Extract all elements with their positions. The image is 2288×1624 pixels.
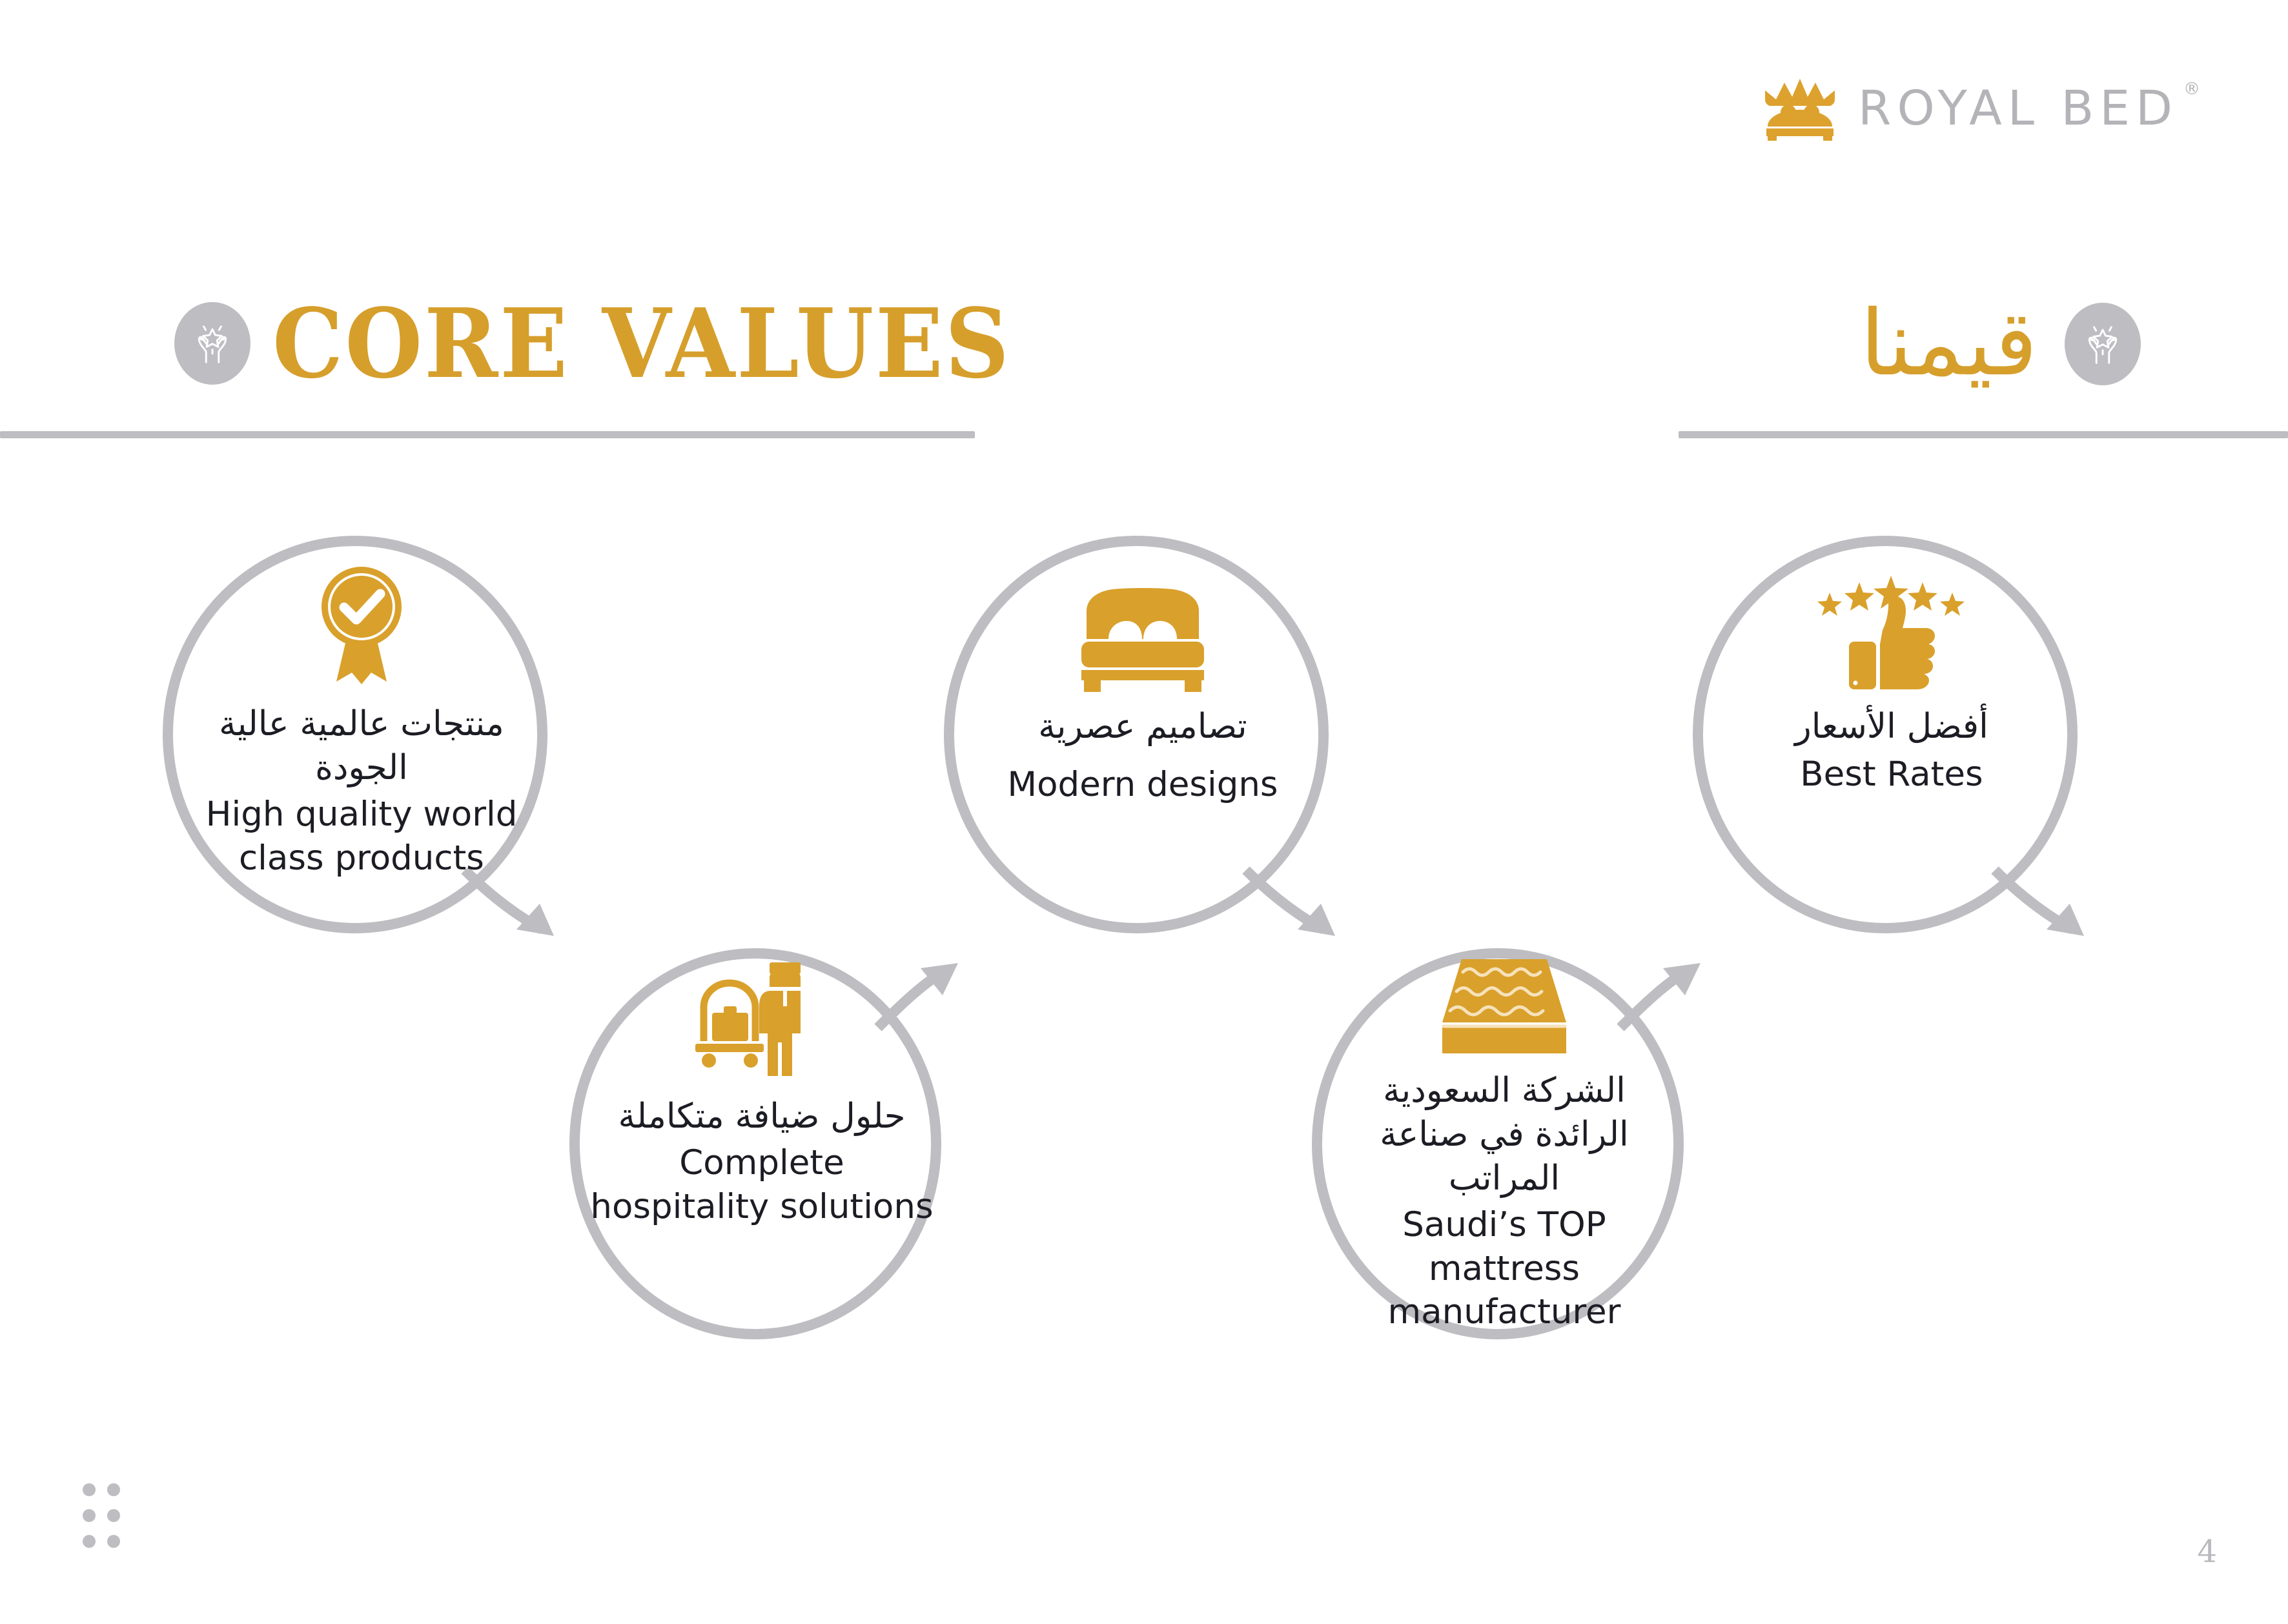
value-label-en: Modern designs (1007, 763, 1278, 807)
page-title-arabic: قيمنا (1860, 292, 2141, 396)
value-bubble-modern-designs[interactable]: تصاميم عصرية Modern designs (936, 534, 1349, 960)
value-label-ar: الشركة السعودية الرائدة في صناعة المراتب (1331, 1069, 1678, 1200)
value-bubble-best-rates[interactable]: أفضل الأسعار Best Rates (1685, 534, 2098, 960)
six-dot-grid-icon (83, 1483, 120, 1548)
page-number: 4 (2197, 1536, 2217, 1567)
value-label-ar: حلول ضيافة متكاملة (618, 1095, 906, 1139)
page-title-text-en: CORE VALUES (272, 296, 1011, 391)
page-title-english: CORE VALUES (174, 296, 1067, 391)
brand-name: ROYAL BED (1858, 81, 2178, 136)
value-label-ar: منتجات عالمية عالية الجودة (188, 702, 535, 790)
dot (83, 1509, 96, 1522)
title-divider-right (1679, 431, 2288, 438)
brand-logo: ROYAL BED® (1759, 76, 2178, 141)
hands-holding-star-icon (2065, 303, 2141, 385)
dot (83, 1483, 96, 1496)
bed-icon (1075, 564, 1210, 693)
value-bubble-mattress-manufacturer[interactable]: الشركة السعودية الرائدة في صناعة المراتب… (1298, 924, 1711, 1350)
mattress-icon (1433, 954, 1575, 1057)
trademark-symbol: ® (2183, 81, 2200, 97)
value-bubble-high-quality[interactable]: منتجات عالمية عالية الجودة High quality … (155, 534, 568, 960)
value-label-en: High quality world class products (188, 793, 535, 880)
brand-wordmark: ROYAL BED® (1858, 85, 2178, 132)
dot (107, 1509, 120, 1522)
value-label-en: Best Rates (1800, 753, 1983, 797)
value-label-en: Saudi’s TOP mattress manufacturer (1331, 1203, 1678, 1334)
crown-bed-icon (1759, 76, 1841, 141)
value-bubble-hospitality[interactable]: حلول ضيافة متكاملة Complete hospitality … (555, 924, 968, 1350)
hands-holding-star-icon (174, 302, 250, 385)
thumbs-up-five-stars-icon (1815, 564, 1967, 693)
page-title-text-ar: قيمنا (1860, 292, 2038, 396)
dot (83, 1535, 96, 1548)
bellhop-luggage-cart-icon (688, 954, 836, 1083)
value-label-en: Complete hospitality solutions (588, 1141, 935, 1229)
value-label-ar: أفضل الأسعار (1795, 705, 1988, 749)
award-ribbon-check-icon (313, 564, 410, 691)
value-label-ar: تصاميم عصرية (1038, 705, 1247, 749)
dot (107, 1535, 120, 1548)
dot (107, 1483, 120, 1496)
title-divider-left (0, 431, 975, 438)
